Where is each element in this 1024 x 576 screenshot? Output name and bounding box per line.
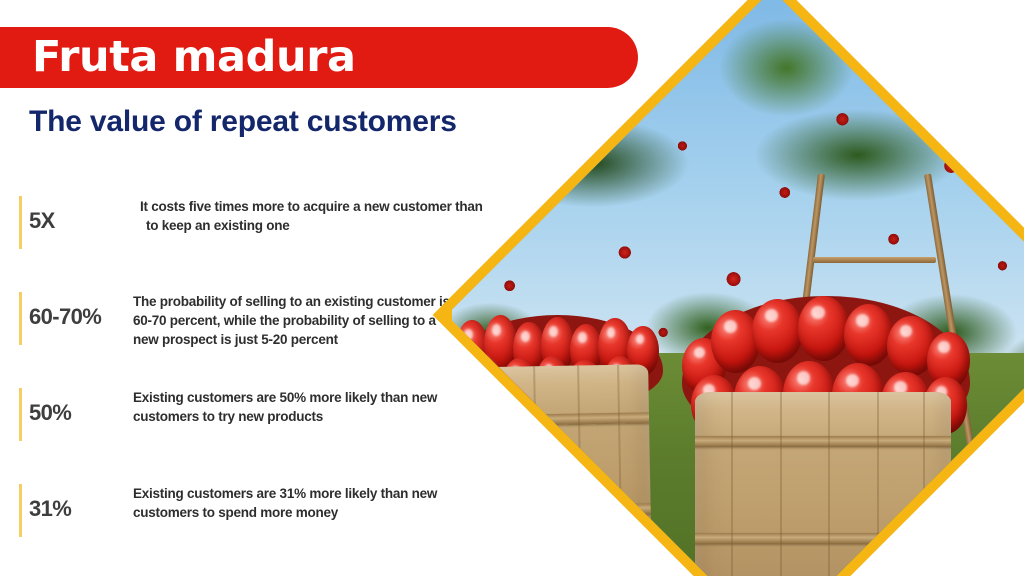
basket-stave — [618, 365, 624, 576]
basket-hoop — [695, 533, 951, 544]
stat-description-line: It costs five times more to acquire a ne… — [140, 197, 544, 216]
apple — [752, 299, 804, 364]
stat-description-line: customers to spend more money — [133, 503, 537, 522]
accent-bar — [19, 292, 22, 345]
basket-stave — [577, 366, 583, 576]
stat-value: 50% — [29, 400, 71, 426]
stat-description: Existing customers are 31% more likely t… — [133, 484, 537, 522]
stat-value: 31% — [29, 496, 71, 522]
stat-description-line: customers to try new products — [133, 407, 537, 426]
basket-hoop — [695, 436, 951, 447]
basket-stave — [780, 392, 782, 576]
basket-stave — [877, 392, 879, 576]
accent-bar — [19, 484, 22, 537]
statistics-list: 5X It costs five times more to acquire a… — [0, 188, 545, 572]
accent-bar — [19, 196, 22, 249]
page-subtitle: The value of repeat customers — [29, 105, 457, 138]
list-item: 5X It costs five times more to acquire a… — [0, 188, 545, 284]
list-item: 31% Existing customers are 31% more like… — [0, 476, 545, 572]
ladder-rung — [813, 257, 936, 263]
accent-bar — [19, 388, 22, 441]
stat-description-line: Existing customers are 50% more likely t… — [133, 388, 537, 407]
apple — [844, 304, 893, 366]
stat-description: It costs five times more to acquire a ne… — [140, 197, 544, 235]
stat-value: 60-70% — [29, 304, 101, 330]
apple — [798, 296, 850, 361]
title-banner: Fruta madura — [0, 27, 638, 88]
basket-stave — [923, 392, 925, 576]
stat-description: Existing customers are 50% more likely t… — [133, 388, 537, 426]
stat-value: 5X — [29, 208, 55, 234]
page-title: Fruta madura — [32, 36, 356, 79]
stat-description-line: to keep an existing one — [140, 216, 544, 235]
list-item: 50% Existing customers are 50% more like… — [0, 380, 545, 476]
basket-stave — [828, 392, 830, 576]
slide-canvas: Fruta madura The value of repeat custome… — [0, 0, 1024, 576]
basket-stave — [731, 392, 733, 576]
bushel-basket — [695, 392, 951, 576]
stat-description-line: Existing customers are 31% more likely t… — [133, 484, 537, 503]
